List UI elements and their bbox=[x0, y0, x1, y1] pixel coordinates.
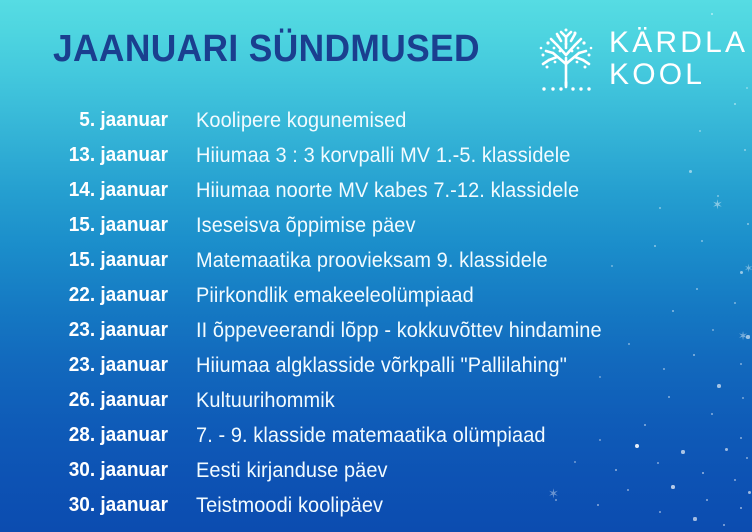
event-row: 14. jaanuarHiiumaa noorte MV kabes 7.-12… bbox=[0, 173, 752, 208]
event-row: 22. jaanuarPiirkondlik emakeeleolümpiaad bbox=[0, 278, 752, 313]
event-title: Iseseisva õppimise päev bbox=[196, 214, 416, 238]
event-row: 23. jaanuarHiiumaa algklasside võrkpalli… bbox=[0, 348, 752, 383]
logo-line-kardla: KÄRDLA bbox=[609, 27, 748, 59]
school-logo: KÄRDLA KOOL bbox=[527, 24, 717, 96]
event-row: 30. jaanuarEesti kirjanduse päev bbox=[0, 453, 752, 488]
event-row: 15. jaanuarMatemaatika proovieksam 9. kl… bbox=[0, 243, 752, 278]
event-title: Hiiumaa 3 : 3 korvpalli MV 1.-5. klassid… bbox=[196, 144, 570, 168]
event-row: 5. jaanuarKoolipere kogunemised bbox=[0, 103, 752, 138]
event-date: 28. jaanuar bbox=[8, 424, 168, 447]
event-date: 5. jaanuar bbox=[8, 109, 168, 132]
event-date: 13. jaanuar bbox=[8, 144, 168, 167]
school-logo-text: KÄRDLA KOOL bbox=[609, 27, 748, 91]
event-row: 26. jaanuarKultuurihommik bbox=[0, 383, 752, 418]
event-row: 28. jaanuar7. - 9. klasside matemaatika … bbox=[0, 418, 752, 453]
january-events-poster: ✶✶✶✶ JAANUARI SÜNDMUSED bbox=[0, 0, 752, 532]
event-row: 23. jaanuarII õppeveerandi lõpp - kokkuv… bbox=[0, 313, 752, 348]
event-date: 14. jaanuar bbox=[8, 179, 168, 202]
poster-header: JAANUARI SÜNDMUSED bbox=[0, 0, 752, 100]
event-row: 15. jaanuarIseseisva õppimise päev bbox=[0, 208, 752, 243]
logo-line-kool: KOOL bbox=[609, 59, 748, 91]
event-row: 30. jaanuarTeistmoodi koolipäev bbox=[0, 488, 752, 523]
page-title: JAANUARI SÜNDMUSED bbox=[53, 28, 480, 71]
event-date: 15. jaanuar bbox=[8, 214, 168, 237]
event-title: Hiiumaa algklasside võrkpalli "Pallilahi… bbox=[196, 354, 567, 378]
event-title: 7. - 9. klasside matemaatika olümpiaad bbox=[196, 424, 546, 448]
event-title: Kultuurihommik bbox=[196, 389, 335, 413]
event-date: 26. jaanuar bbox=[8, 389, 168, 412]
event-title: Hiiumaa noorte MV kabes 7.-12. klassidel… bbox=[196, 179, 579, 203]
event-title: II õppeveerandi lõpp - kokkuvõttev hinda… bbox=[196, 319, 602, 343]
event-date: 22. jaanuar bbox=[8, 284, 168, 307]
event-title: Eesti kirjanduse päev bbox=[196, 459, 388, 483]
event-title: Piirkondlik emakeeleolümpiaad bbox=[196, 284, 474, 308]
event-date: 15. jaanuar bbox=[8, 249, 168, 272]
event-title: Matemaatika proovieksam 9. klassidele bbox=[196, 249, 548, 273]
event-date: 23. jaanuar bbox=[8, 319, 168, 342]
event-date: 23. jaanuar bbox=[8, 354, 168, 377]
event-title: Koolipere kogunemised bbox=[196, 109, 406, 133]
event-row: 13. jaanuarHiiumaa 3 : 3 korvpalli MV 1.… bbox=[0, 138, 752, 173]
event-title: Teistmoodi koolipäev bbox=[196, 494, 383, 518]
snow-dot bbox=[723, 524, 725, 526]
event-date: 30. jaanuar bbox=[8, 459, 168, 482]
event-list: 5. jaanuarKoolipere kogunemised13. jaanu… bbox=[0, 103, 752, 523]
winter-tree-icon bbox=[527, 24, 605, 94]
event-date: 30. jaanuar bbox=[8, 494, 168, 517]
